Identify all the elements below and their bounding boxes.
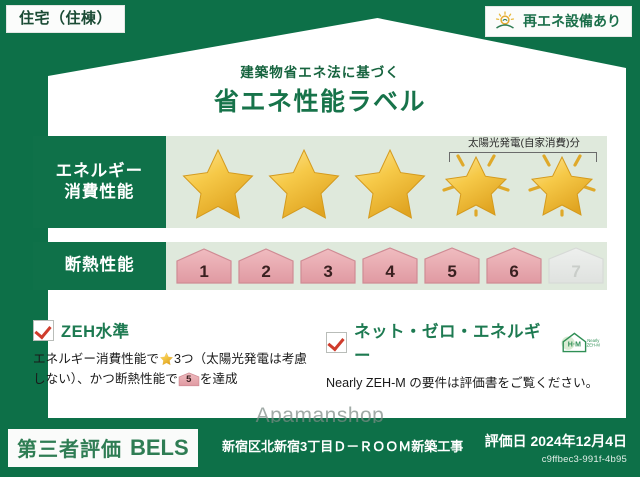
energy-performance-label: エネルギー 消費性能	[33, 136, 166, 228]
zeh-note-header: ZEH水準	[33, 318, 308, 342]
star-icon	[262, 143, 346, 221]
insulation-level-value: 1	[174, 262, 234, 282]
svg-text:ZEH-M: ZEH-M	[587, 342, 601, 347]
category-tag: 住宅（住棟）	[6, 5, 125, 33]
zehm-note-column: ネット・ゼロ・エネルギー H·M Nearly ZEH-M Nearly ZEH…	[326, 318, 601, 393]
evaluation-uid: c9ffbec3-991f-4b95	[485, 454, 627, 465]
evaluation-date: 評価日 2024年12月4日	[485, 431, 627, 451]
insulation-level-house-4: 4	[360, 247, 420, 285]
zehm-note-body: Nearly ZEH-M の要件は評価書をご覧ください。	[326, 373, 601, 393]
insulation-scale-field: 1 2 3 4 5	[166, 242, 607, 290]
energy-label-line1: エネルギー	[56, 161, 144, 182]
insulation-performance-row: 断熱性能 1 2 3	[33, 242, 607, 290]
insulation-level-house-5: 5	[422, 247, 482, 285]
energy-performance-row: エネルギー 消費性能 太陽光発電(自家消費)分	[33, 136, 607, 228]
insulation-level-value: 5	[422, 262, 482, 282]
insulation-performance-label: 断熱性能	[33, 242, 166, 290]
insulation-level-value: 7	[546, 262, 606, 282]
energy-label-line2: 消費性能	[64, 182, 134, 203]
insulation-level-house-7: 7	[546, 247, 606, 285]
zehm-note-title: ネット・ゼロ・エネルギー	[354, 318, 552, 366]
renewable-energy-badge: 再エネ設備あり	[485, 6, 632, 37]
evaluation-info: 評価日 2024年12月4日 c9ffbec3-991f-4b95	[485, 431, 627, 465]
zeh-note-title: ZEH水準	[61, 318, 130, 342]
zeh-note-body: エネルギー消費性能で 3つ（太陽光発電は考慮しない）、かつ断熱性能で 5を達成	[33, 349, 308, 390]
star-icon-solar	[434, 143, 518, 221]
zeh-note-column: ZEH水準 エネルギー消費性能で 3つ（太陽光発電は考慮しない）、かつ断熱性能で…	[33, 318, 308, 393]
star-icon	[348, 143, 432, 221]
footer-bar: 第三者評価 BELS 新宿区北新宿3丁目Ｄ－ＲＯＯＭ新築工事 評価日 2024年…	[0, 423, 640, 477]
notes-section: ZEH水準 エネルギー消費性能で 3つ（太陽光発電は考慮しない）、かつ断熱性能で…	[33, 318, 611, 393]
star-icon-inline	[159, 351, 174, 366]
page-title: 省エネ性能ラベル	[0, 82, 640, 118]
checkmark-icon	[326, 332, 347, 353]
zehm-note-header: ネット・ゼロ・エネルギー H·M Nearly ZEH-M	[326, 318, 601, 366]
insulation-level-value: 4	[360, 262, 420, 282]
insulation-level-house-6: 6	[484, 247, 544, 285]
zeh-note-text-a: エネルギー消費性能で	[33, 352, 159, 366]
property-address: 新宿区北新宿3丁目Ｄ－ＲＯＯＭ新築工事	[222, 436, 463, 455]
svg-text:H·M: H·M	[568, 341, 581, 348]
zeh-note-text-c: を達成	[200, 372, 238, 386]
star-icon-solar	[520, 143, 604, 221]
checkmark-icon	[33, 320, 54, 341]
sun-icon	[494, 11, 516, 31]
subtitle: 建築物省エネ法に基づく	[0, 61, 640, 81]
insulation-badge-value: 5	[178, 372, 200, 387]
insulation-level-house-1: 1	[174, 247, 234, 285]
insulation-level-value: 6	[484, 262, 544, 282]
insulation-level-house-3: 3	[298, 247, 358, 285]
zeh-m-logo-icon: H·M Nearly ZEH-M	[559, 330, 601, 355]
energy-star-field: 太陽光発電(自家消費)分	[166, 136, 607, 228]
insulation-badge-inline: 5	[178, 372, 200, 387]
star-icon	[176, 143, 260, 221]
renewable-badge-label: 再エネ設備あり	[523, 14, 621, 28]
insulation-level-value: 2	[236, 262, 296, 282]
bels-mark-label: BELS	[130, 435, 189, 461]
insulation-level-value: 3	[298, 262, 358, 282]
insulation-label-text: 断熱性能	[65, 255, 135, 276]
bels-logo: 第三者評価 BELS	[8, 429, 198, 467]
label-canvas: 住宅（住棟） 再エネ設備あり 建築物省エネ法に基づく 省エネ性能ラベル	[0, 0, 640, 477]
bels-prefix-label: 第三者評価	[17, 433, 122, 462]
insulation-level-house-2: 2	[236, 247, 296, 285]
